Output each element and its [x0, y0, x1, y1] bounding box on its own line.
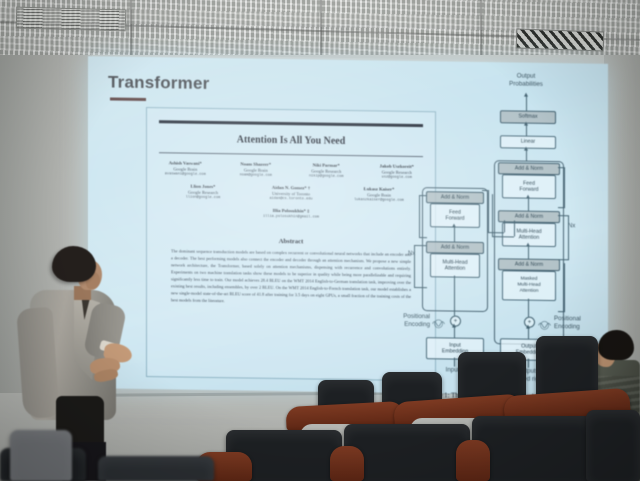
- author-entry: Aidan N. Gomez* † University of Toronto …: [252, 185, 330, 203]
- arrow-decoder-mha: [528, 247, 529, 259]
- ceiling: [0, 0, 640, 62]
- residual-line: [558, 167, 565, 168]
- decoder-add-norm-1: Add & Norm: [498, 162, 560, 175]
- ceiling-air-vent: [516, 28, 605, 51]
- paper-author-block: Ashish Vaswani* Google Brain avaswani@go…: [155, 160, 427, 228]
- residual-line: [558, 311, 565, 312]
- auditorium-chair-front: [98, 456, 214, 481]
- arrow-encoder-ff: [454, 228, 455, 242]
- slide-title: Transformer: [108, 72, 209, 94]
- author-email: llion@google.com: [164, 196, 242, 202]
- abstract-heading: Abstract: [147, 236, 435, 247]
- decoder-input-line: [528, 299, 529, 317]
- residual-line: [564, 167, 565, 207]
- arrow-to-output: [526, 97, 527, 111]
- residual-line: [558, 259, 569, 260]
- encoder-decoder-link: [488, 190, 489, 232]
- author-entry: Llion Jones* Google Research llion@googl…: [164, 183, 242, 201]
- author-entry: Illia Polosukhin* ‡ illia.polosukhin@gma…: [236, 208, 346, 221]
- residual-line: [558, 215, 569, 216]
- author-email: nikip@google.com: [296, 174, 357, 180]
- encoder-input-line: [454, 276, 455, 316]
- author-email: avaswani@google.com: [155, 172, 216, 178]
- softmax-block: Softmax: [500, 110, 556, 124]
- residual-line: [419, 195, 420, 237]
- residual-line: [564, 263, 565, 311]
- decoder-positional-encoding-icon: [538, 317, 551, 326]
- decoder-add-norm-3: Add & Norm: [498, 258, 560, 271]
- residual-line: [414, 245, 415, 287]
- presenter-hair: [52, 246, 96, 282]
- auditorium-chair-front: [472, 416, 592, 481]
- author-entry: Łukasz Kaiser* Google Brain lukaszkaiser…: [340, 186, 418, 204]
- arrow-linear: [526, 151, 527, 161]
- author-row: Illia Polosukhin* ‡ illia.polosukhin@gma…: [155, 206, 427, 221]
- arrow-decoder-embedding: [528, 329, 529, 339]
- ceiling-air-vent: [16, 7, 127, 32]
- encoder-decoder-link: [488, 232, 504, 233]
- encoder-bottom-line: [454, 358, 455, 367]
- residual-line: [568, 215, 569, 259]
- encoder-decoder-link: [482, 190, 489, 191]
- residual-line: [558, 207, 565, 208]
- projection-screen: Transformer Attention Is All You Need As…: [88, 56, 608, 396]
- author-row: Llion Jones* Google Research llion@googl…: [155, 183, 427, 204]
- arrow-encoder-embedding: [454, 328, 455, 338]
- author-row: Ashish Vaswani* Google Brain avaswani@go…: [155, 160, 427, 181]
- chair-armrest: [456, 440, 490, 481]
- linear-block: Linear: [500, 135, 556, 149]
- residual-line: [414, 287, 427, 288]
- decoder-add-norm-2: Add & Norm: [498, 210, 560, 223]
- paper-rule-bottom: [159, 152, 423, 157]
- auditorium-chair-front: [586, 410, 640, 481]
- encoder-positional-encoding-label: Positional Encoding: [382, 313, 430, 330]
- chair-armrest: [330, 446, 364, 481]
- paper-rule-top: [159, 120, 423, 126]
- ceiling-seam: [130, 0, 132, 62]
- author-entry: Niki Parmar* Google Research nikip@googl…: [296, 162, 357, 180]
- encoder-positional-encoding-icon: [432, 315, 445, 324]
- abstract-body: The dominant sequence transduction model…: [171, 248, 411, 307]
- author-email: aidan@cs.toronto.edu: [252, 197, 330, 203]
- author-entry: Noam Shazeer* Google Brain noam@google.c…: [226, 161, 287, 179]
- residual-line: [414, 245, 427, 246]
- paper-title: Attention Is All You Need: [147, 133, 435, 148]
- decoder-repeat-label: Nx: [568, 223, 575, 229]
- presenter-left-arm: [16, 307, 60, 419]
- encoder-multi-head-attention: Multi-Head Attention: [430, 253, 480, 278]
- residual-line: [419, 237, 427, 238]
- paper-card: Attention Is All You Need Ashish Vaswani…: [146, 107, 436, 381]
- decoder-bottom-line: [528, 359, 529, 368]
- arrow-softmax: [526, 126, 527, 136]
- author-email: illia.polosukhin@gmail.com: [236, 214, 346, 221]
- encoder-add-norm-bottom: Add & Norm: [426, 241, 484, 254]
- slide-title-underline: [110, 97, 146, 101]
- auditorium-chair: [10, 430, 72, 481]
- ceiling-seam: [480, 0, 482, 62]
- author-email: lukaszkaiser@google.com: [340, 198, 418, 204]
- decoder-masked-multi-head-attention: Masked Multi-Head Attention: [502, 270, 556, 301]
- audience-hair: [598, 330, 634, 360]
- encoder-decoder-link: [492, 194, 493, 236]
- residual-line: [419, 195, 427, 196]
- encoder-add-norm-top: Add & Norm: [426, 191, 484, 204]
- arrow-decoder-ff: [528, 199, 529, 211]
- lecture-hall-photo: Transformer Attention Is All You Need As…: [0, 0, 640, 481]
- encoder-decoder-link: [514, 220, 515, 236]
- output-probabilities-label: Output Probabilities: [496, 72, 556, 90]
- author-email: noam@google.com: [226, 173, 287, 179]
- encoder-decoder-link: [504, 220, 505, 232]
- author-entry: Ashish Vaswani* Google Brain avaswani@go…: [155, 160, 216, 178]
- ceiling-seam: [320, 0, 322, 62]
